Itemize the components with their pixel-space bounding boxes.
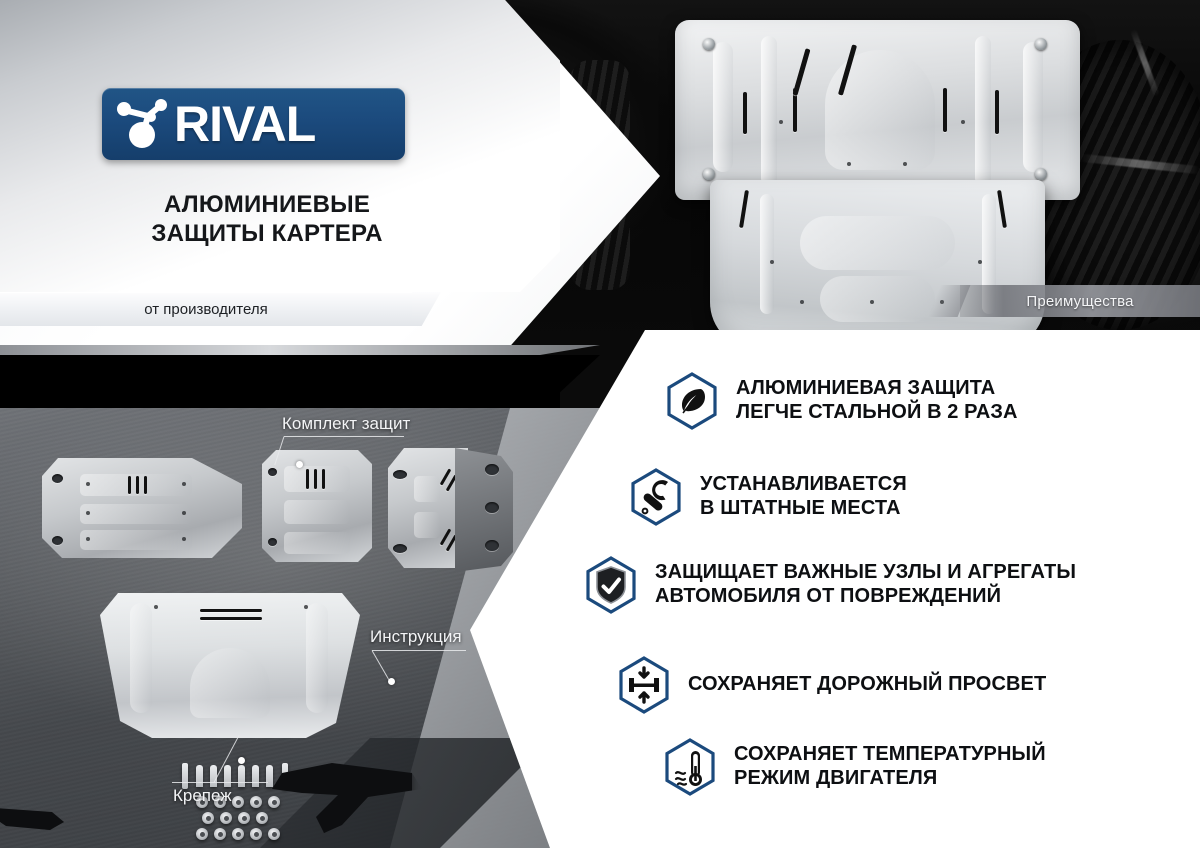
molecule-icon — [114, 96, 176, 152]
subtitle-bar: от производителя — [0, 292, 412, 326]
tab-advantages[interactable]: Преимущества — [960, 285, 1200, 317]
rival-logo-text: RIVAL — [174, 99, 315, 149]
headline-line-2: ЗАЩИТЫ КАРТЕРА — [102, 219, 432, 248]
skid-plate-engine — [675, 20, 1080, 200]
benefit-item-4: СОХРАНЯЕТ ТЕМПЕРАТУРНЫЙ РЕЖИМ ДВИГАТЕЛЯ — [664, 738, 1046, 796]
rival-logo[interactable]: RIVAL — [102, 88, 405, 160]
benefit-line1-1: УСТАНАВЛИВАЕТСЯ — [700, 473, 907, 497]
page-title: АЛЮМИНИЕВЫЕ ЗАЩИТЫ КАРТЕРА — [102, 190, 432, 249]
callout-instruction-label: Инструкция — [370, 627, 462, 647]
callout-fasteners-label: Крепеж — [173, 786, 232, 806]
skid-plate-b — [262, 450, 372, 562]
skid-plate-large — [100, 593, 360, 738]
benefit-text-2: ЗАЩИЩАЕТ ВАЖНЫЕ УЗЛЫ И АГРЕГАТЫ АВТОМОБИ… — [655, 561, 1076, 608]
promo-banner: Преимущества RIVAL АЛЮМИНИЕВЫЕ ЗАЩИТЫ КА… — [0, 0, 1200, 848]
benefit-line1-0: АЛЮМИНИЕВАЯ ЗАЩИТА — [736, 377, 1018, 401]
leaf-icon — [666, 372, 718, 430]
benefit-text-0: АЛЮМИНИЕВАЯ ЗАЩИТА ЛЕГЧЕ СТАЛЬНОЙ В 2 РА… — [736, 377, 1018, 424]
benefit-text-3: СОХРАНЯЕТ ДОРОЖНЫЙ ПРОСВЕТ — [688, 673, 1046, 697]
callout-kit-dot — [296, 461, 303, 468]
headline-line-1: АЛЮМИНИЕВЫЕ — [102, 190, 432, 219]
benefit-line1-2: ЗАЩИЩАЕТ ВАЖНЫЕ УЗЛЫ И АГРЕГАТЫ — [655, 561, 1076, 585]
benefit-line1-4: СОХРАНЯЕТ ТЕМПЕРАТУРНЫЙ — [734, 743, 1046, 767]
benefit-text-1: УСТАНАВЛИВАЕТСЯ В ШТАТНЫЕ МЕСТА — [700, 473, 907, 520]
skid-plate-transmission — [710, 180, 1045, 350]
wrench-icon — [630, 468, 682, 526]
benefit-line2-4: РЕЖИМ ДВИГАТЕЛЯ — [734, 767, 1046, 791]
benefit-item-1: УСТАНАВЛИВАЕТСЯ В ШТАТНЫЕ МЕСТА — [630, 468, 907, 526]
skid-plate-a — [42, 458, 242, 558]
benefit-item-2: ЗАЩИЩАЕТ ВАЖНЫЕ УЗЛЫ И АГРЕГАТЫ АВТОМОБИ… — [585, 556, 1076, 614]
skid-plate-c-side — [455, 448, 513, 572]
benefit-line1-3: СОХРАНЯЕТ ДОРОЖНЫЙ ПРОСВЕТ — [688, 673, 1046, 697]
benefit-line2-2: АВТОМОБИЛЯ ОТ ПОВРЕЖДЕНИЙ — [655, 585, 1076, 609]
thermometer-icon — [664, 738, 716, 796]
callout-instruction-dot — [388, 678, 395, 685]
benefit-line2-0: ЛЕГЧЕ СТАЛЬНОЙ В 2 РАЗА — [736, 401, 1018, 425]
subtitle-text: от производителя — [144, 301, 267, 318]
shield-check-icon — [585, 556, 637, 614]
callout-kit-label: Комплект защит — [282, 414, 410, 434]
callout-fasteners-dot — [238, 757, 245, 764]
tab-advantages-label: Преимущества — [1026, 293, 1133, 310]
black-separator — [0, 355, 560, 411]
benefit-item-0: АЛЮМИНИЕВАЯ ЗАЩИТА ЛЕГЧЕ СТАЛЬНОЙ В 2 РА… — [666, 372, 1018, 430]
ground-clearance-icon — [618, 656, 670, 714]
benefit-item-3: СОХРАНЯЕТ ДОРОЖНЫЙ ПРОСВЕТ — [618, 656, 1046, 714]
benefit-text-4: СОХРАНЯЕТ ТЕМПЕРАТУРНЫЙ РЕЖИМ ДВИГАТЕЛЯ — [734, 743, 1046, 790]
benefit-line2-1: В ШТАТНЫЕ МЕСТА — [700, 497, 907, 521]
